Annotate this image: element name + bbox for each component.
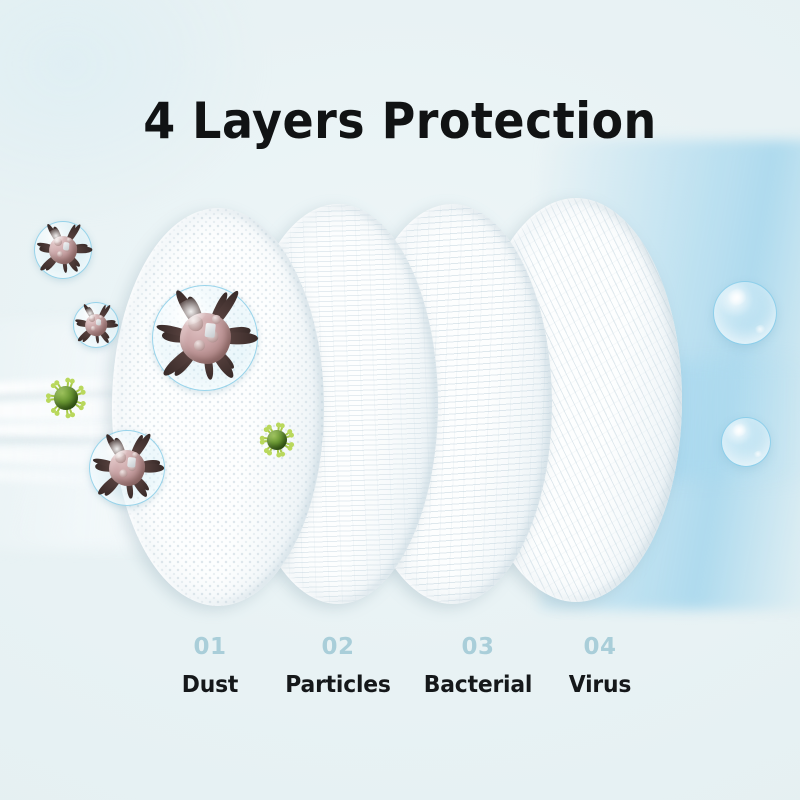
virus-bump bbox=[91, 326, 96, 331]
virus-bump bbox=[57, 251, 63, 257]
bacteria-particle bbox=[47, 379, 85, 417]
poster-canvas: 4 Layers Protection 01 Dust 02 Particles… bbox=[0, 0, 800, 800]
virus-bubble bbox=[73, 302, 119, 348]
bubble-highlight-secondary bbox=[752, 450, 763, 459]
bacteria-core bbox=[54, 386, 78, 410]
virus-highlight-chip bbox=[127, 457, 136, 468]
legend-label: Particles bbox=[262, 674, 414, 697]
bacteria-particle bbox=[261, 424, 293, 456]
legend-item-particles[interactable]: 02 Particles bbox=[258, 636, 418, 697]
page-title: 4 Layers Protection bbox=[32, 92, 768, 150]
virus-bump bbox=[119, 469, 127, 477]
virus-bump bbox=[194, 340, 205, 351]
legend-number: 02 bbox=[258, 636, 418, 659]
bubble-highlight bbox=[729, 420, 750, 439]
virus-highlight-chip bbox=[96, 319, 101, 326]
bacteria-core bbox=[267, 430, 288, 451]
clean-air-bubble bbox=[713, 281, 777, 345]
virus-bubble bbox=[152, 285, 258, 391]
virus-highlight-chip bbox=[63, 242, 70, 250]
virus-highlight-chip bbox=[205, 323, 217, 338]
bubble-highlight-secondary bbox=[753, 323, 767, 335]
virus-bubble bbox=[34, 221, 92, 279]
virus-bubble bbox=[89, 430, 165, 506]
mask-layer-01 bbox=[112, 208, 324, 606]
clean-air-bubble bbox=[721, 417, 771, 467]
bubble-highlight bbox=[723, 285, 750, 309]
legend-number: 04 bbox=[520, 636, 680, 659]
legend-label: Virus bbox=[524, 674, 676, 697]
legend-item-virus[interactable]: 04 Virus bbox=[520, 636, 680, 697]
legend: 01 Dust 02 Particles 03 Bacterial 04 Vir… bbox=[0, 636, 800, 726]
layer-rim bbox=[112, 208, 324, 606]
